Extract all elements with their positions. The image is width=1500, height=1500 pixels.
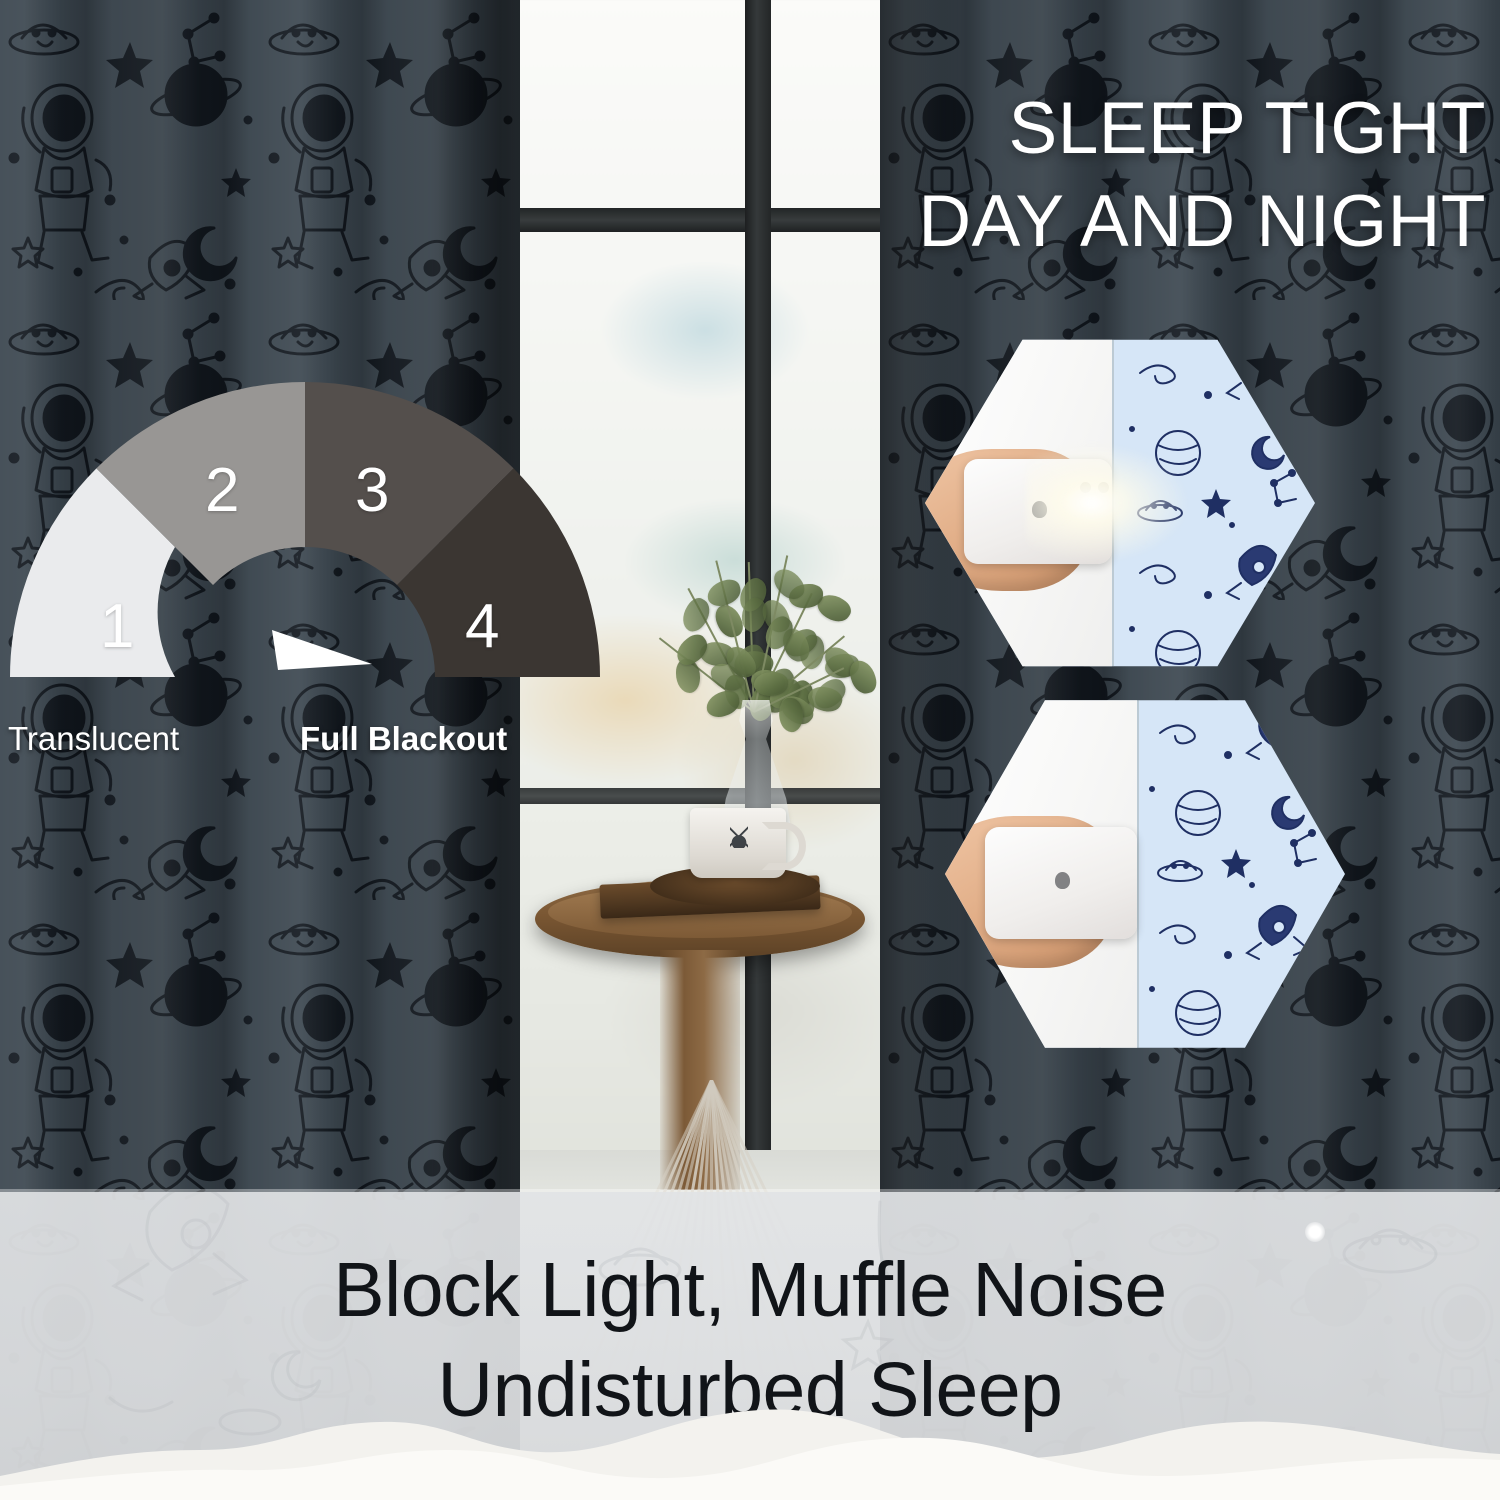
blackout-level-gauge: 1 2 3 4 <box>0 372 610 692</box>
window-mullion-horizontal <box>505 208 895 232</box>
fabric-split-line-bottom <box>1137 693 1139 1055</box>
gauge-number-1: 1 <box>100 596 134 658</box>
sofa-wave-shape <box>0 1380 1500 1500</box>
product-image-canvas: SLEEP TIGHT DAY AND NIGHT <box>0 0 1500 1500</box>
gauge-svg <box>0 372 610 692</box>
apple-logo-icon-bottom <box>1055 872 1070 889</box>
window-mullion-horizontal-lower <box>505 788 895 804</box>
headline-line-2: DAY AND NIGHT <box>918 175 1486 268</box>
gauge-number-3: 3 <box>355 460 389 522</box>
headline: SLEEP TIGHT DAY AND NIGHT <box>918 82 1486 269</box>
gauge-label-full-blackout: Full Blackout <box>300 722 507 755</box>
light-highlight-dot <box>1305 1222 1325 1242</box>
deer-logo-icon <box>730 826 748 848</box>
gauge-label-translucent: Translucent <box>8 722 179 755</box>
phone-flashlight-off <box>985 827 1137 939</box>
flashlight-glow <box>1026 442 1190 564</box>
gauge-needle <box>272 630 372 670</box>
bottom-banner: Block Light, Muffle Noise Undisturbed Sl… <box>0 1192 1500 1500</box>
gauge-number-4: 4 <box>465 596 499 658</box>
plant-leaf <box>847 658 879 697</box>
banner-line-1: Block Light, Muffle Noise <box>0 1240 1500 1340</box>
plant-leaf <box>704 577 743 609</box>
headline-line-1: SLEEP TIGHT <box>918 82 1486 175</box>
gauge-number-2: 2 <box>205 460 239 522</box>
